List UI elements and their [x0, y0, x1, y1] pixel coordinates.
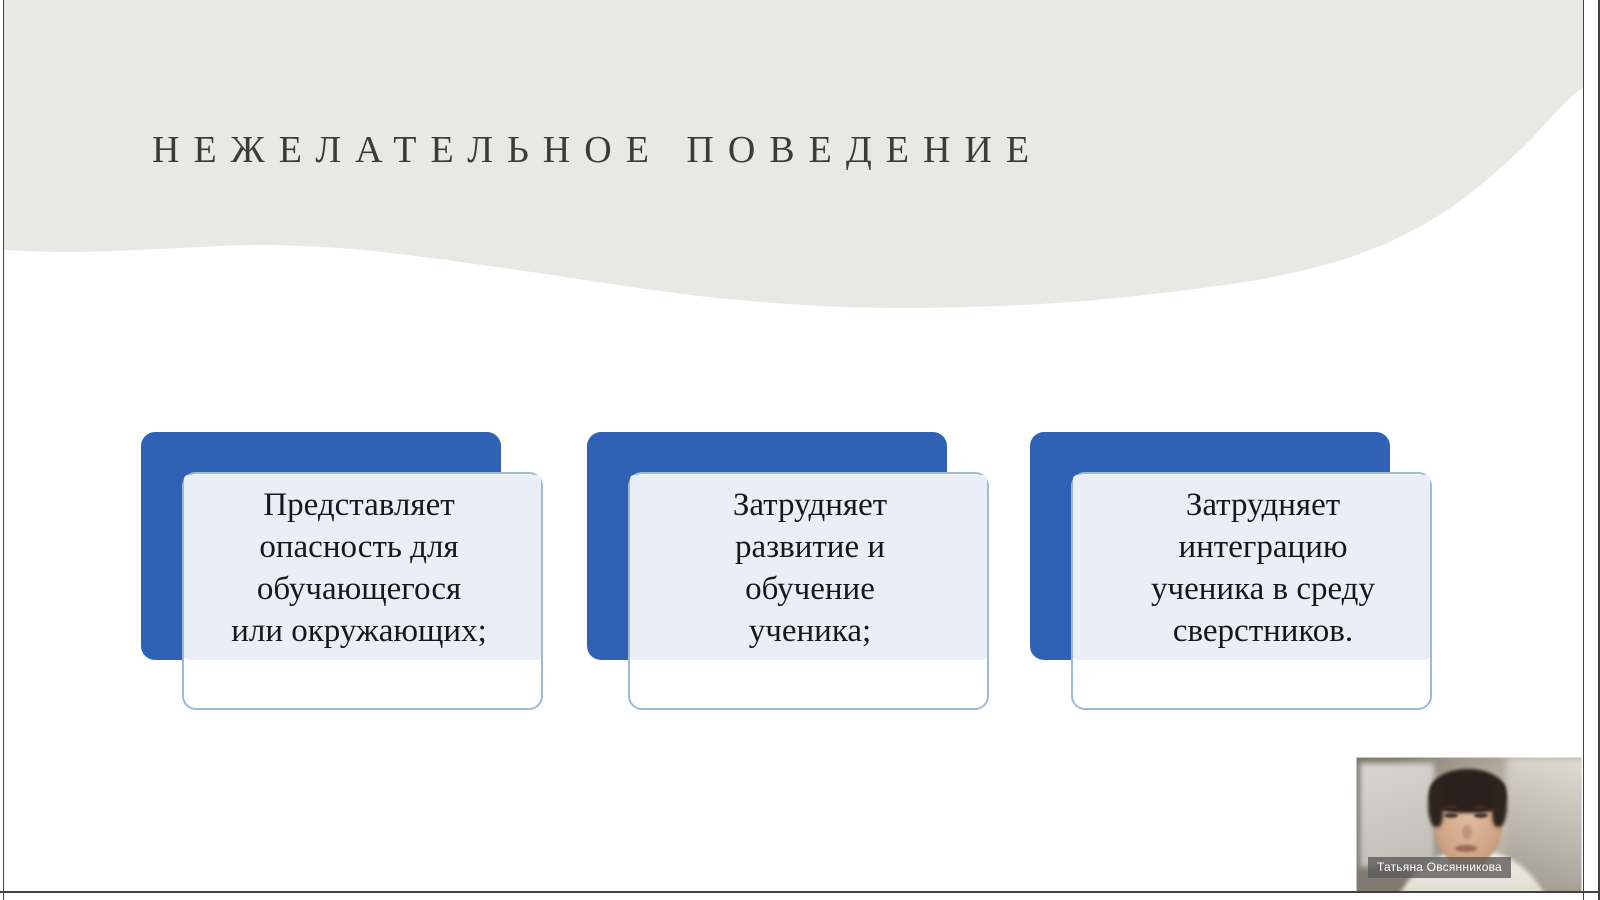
card-group-1: Представляет опасность для обучающегося … — [141, 432, 551, 712]
card-text-2: Затрудняет развитие и обучение ученика; — [615, 484, 1005, 652]
person-hair-right — [1492, 783, 1507, 827]
card-group-3: Затрудняет интеграцию ученика в среду св… — [1030, 432, 1440, 712]
webcam-thumbnail[interactable]: Татьяна Овсянникова — [1356, 757, 1582, 892]
viewer-frame-bottom — [0, 891, 1600, 893]
viewer-frame-right-inner — [1583, 0, 1584, 900]
person-mouth — [1455, 845, 1477, 852]
person-eye-left — [1444, 813, 1458, 818]
person-hair-left — [1428, 783, 1443, 827]
person-eye-right — [1474, 813, 1488, 818]
card-text-3: Затрудняет интеграцию ученика в среду св… — [1068, 484, 1458, 652]
person-eyebrow-right — [1473, 805, 1489, 809]
participant-name-label: Татьяна Овсянникова — [1368, 857, 1511, 878]
screen: НЕЖЕЛАТЕЛЬНОЕ ПОВЕДЕНИЕ Представляет опа… — [0, 0, 1600, 900]
viewer-frame-left — [3, 0, 4, 900]
card-text-1: Представляет опасность для обучающегося … — [157, 484, 561, 652]
card-group-2: Затрудняет развитие и обучение ученика; — [587, 432, 997, 712]
person-eyebrow-left — [1442, 805, 1458, 809]
page-title: НЕЖЕЛАТЕЛЬНОЕ ПОВЕДЕНИЕ — [152, 128, 1043, 172]
person-nose — [1462, 825, 1472, 839]
background-wall-left — [1360, 763, 1434, 867]
presentation-slide: НЕЖЕЛАТЕЛЬНОЕ ПОВЕДЕНИЕ Представляет опа… — [4, 0, 1583, 892]
